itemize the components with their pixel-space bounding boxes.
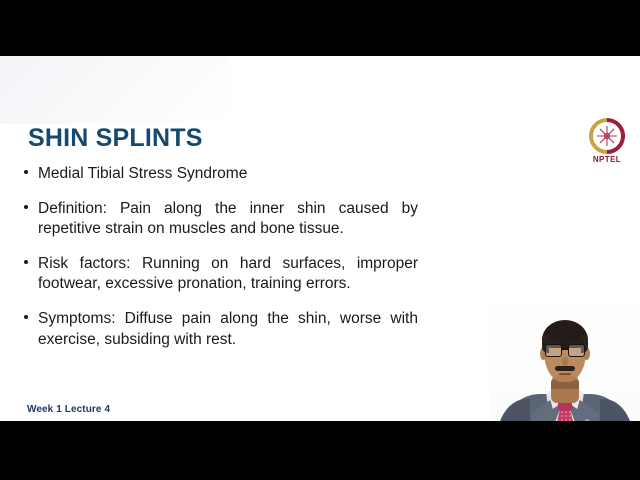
bullet-dot-icon <box>24 260 28 264</box>
nptel-star-icon <box>596 125 618 147</box>
nptel-logo: NPTEL <box>583 118 631 166</box>
presenter-chin-shadow <box>552 375 578 382</box>
letterbox-top <box>0 0 640 56</box>
slide-title: SHIN SPLINTS <box>28 126 203 151</box>
bullet-text: Definition: Pain along the inner shin ca… <box>38 199 418 240</box>
letterbox-bottom <box>0 421 640 480</box>
bullet-dot-icon <box>24 315 28 319</box>
presenter-video-overlay[interactable] <box>490 281 640 421</box>
nptel-wordmark: NPTEL <box>583 155 631 164</box>
bullet-text: Symptoms: Diffuse pain along the shin, w… <box>38 309 418 350</box>
glasses-lens-left <box>545 344 562 357</box>
bullet-list: Medial Tibial Stress Syndrome Definition… <box>22 164 418 350</box>
bullet-text: Risk factors: Running on hard surfaces, … <box>38 254 418 295</box>
lecture-slide: SHIN SPLINTS Medial Tibial Stress Syndro… <box>0 56 640 421</box>
presenter-glasses-icon <box>543 344 587 358</box>
lecture-footer-note: Week 1 Lecture 4 <box>27 404 110 415</box>
bullet-item: Risk factors: Running on hard surfaces, … <box>22 254 418 295</box>
presenter-nose <box>562 357 568 366</box>
bullet-dot-icon <box>24 170 28 174</box>
bullet-item: Medial Tibial Stress Syndrome <box>22 164 418 185</box>
presenter-moustache <box>555 366 575 371</box>
bullet-dot-icon <box>24 205 28 209</box>
video-player[interactable]: SHIN SPLINTS Medial Tibial Stress Syndro… <box>0 0 640 480</box>
glasses-lens-right <box>568 344 585 357</box>
title-background-tint <box>0 56 230 124</box>
glasses-bridge <box>562 348 568 350</box>
bullet-item: Symptoms: Diffuse pain along the shin, w… <box>22 309 418 350</box>
bullet-text: Medial Tibial Stress Syndrome <box>38 164 418 185</box>
bullet-item: Definition: Pain along the inner shin ca… <box>22 199 418 240</box>
nptel-emblem-icon <box>589 118 625 154</box>
